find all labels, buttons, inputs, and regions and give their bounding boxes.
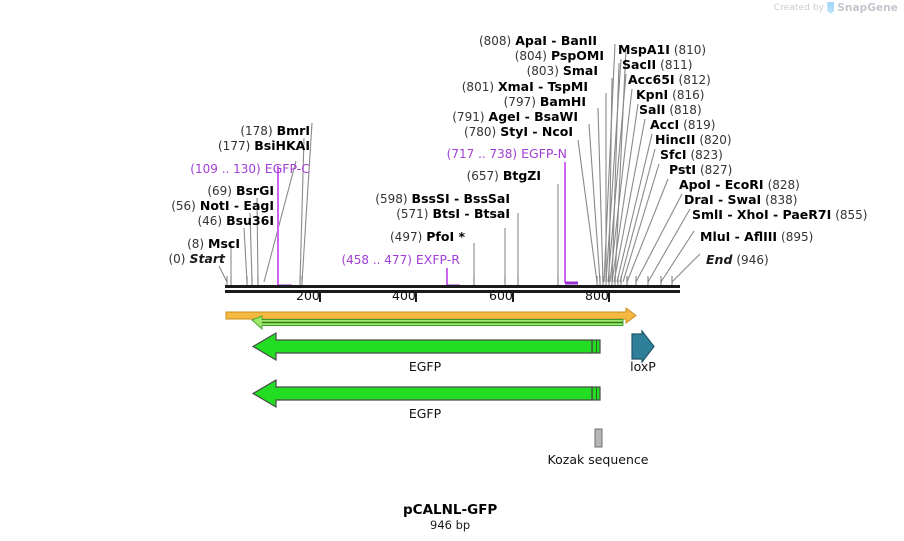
enzyme-name: ApoI - EcoRI — [679, 177, 764, 192]
enzyme-pos: (810) — [674, 43, 706, 57]
enzyme-label-acc65i: Acc65I (812) — [628, 73, 711, 87]
terminus-pos: (946) — [736, 253, 768, 267]
terminus-label-end: End (946) — [706, 253, 769, 267]
enzyme-label-bmri: (178) BmrI — [240, 124, 310, 138]
terminus-pos: (0) — [168, 252, 185, 266]
enzyme-label-btsi-btsai: (571) BtsI - BtsaI — [396, 207, 510, 221]
ruler-tick-label-600: 600 — [489, 289, 513, 302]
enzyme-pos: (895) — [781, 230, 813, 244]
enzyme-name: BmrI — [277, 123, 310, 138]
enzyme-name: MscI — [208, 236, 240, 251]
sequence-backbone — [225, 285, 680, 293]
feature-caption-egfp-2: EGFP — [355, 406, 495, 421]
enzyme-name: StyI - NcoI — [500, 124, 573, 139]
enzyme-label-agei-bsawi: (791) AgeI - BsaWI — [452, 110, 578, 124]
ruler-tick-label-200: 200 — [296, 289, 320, 302]
enzyme-pos: (8) — [187, 237, 204, 251]
enzyme-pos: (791) — [452, 110, 484, 124]
enzyme-pos: (827) — [700, 163, 732, 177]
enzyme-name: MluI - AflIII — [700, 229, 777, 244]
enzyme-name: BtsI - BtsaI — [432, 206, 510, 221]
enzyme-name: ApaI - BanII — [515, 33, 597, 48]
enzyme-name: AgeI - BsaWI — [489, 109, 578, 124]
feature-caption-kozak: Kozak sequence — [528, 452, 668, 467]
enzyme-label-bsrgi: (69) BsrGI — [207, 184, 274, 198]
enzyme-name: KpnI — [636, 87, 668, 102]
enzyme-name: PstI — [669, 162, 696, 177]
enzyme-label-bsssi-bsssai: (598) BssSI - BssSaI — [375, 192, 510, 206]
ruler-ticks — [320, 293, 609, 302]
enzyme-label-smai: (803) SmaI — [527, 64, 598, 78]
enzyme-label-mspa1i: MspA1I (810) — [618, 43, 706, 57]
ruler-tick-label-400: 400 — [392, 289, 416, 302]
feature-arrow-loxp — [632, 331, 654, 362]
enzyme-pos: (598) — [375, 192, 407, 206]
enzyme-label-xmai-tspmi: (801) XmaI - TspMI — [462, 80, 588, 94]
enzyme-name: SacII — [622, 57, 656, 72]
enzyme-pos: (855) — [835, 208, 867, 222]
feature-arrow-egfp-2 — [253, 380, 600, 407]
enzyme-name: PfoI * — [426, 229, 465, 244]
enzyme-name: BsrGI — [236, 183, 274, 198]
enzyme-name: Bsu36I — [226, 213, 274, 228]
enzyme-name: SmlI - XhoI - PaeR7I — [692, 207, 831, 222]
enzyme-label-styi-ncoi: (780) StyI - NcoI — [464, 125, 573, 139]
enzyme-label-pfoi: (497) PfoI * — [390, 230, 465, 244]
enzyme-name: HincII — [655, 132, 695, 147]
enzyme-label-noti-eagi: (56) NotI - EagI — [171, 199, 274, 213]
enzyme-pos: (797) — [504, 95, 536, 109]
feature-label-egfp-n: (717 .. 738) EGFP-N — [447, 147, 567, 161]
enzyme-pos: (816) — [672, 88, 704, 102]
enzyme-label-acci: AccI (819) — [650, 118, 715, 132]
enzyme-pos: (571) — [396, 207, 428, 221]
feature-bracket-egfp-n — [565, 162, 578, 283]
enzyme-name: MspA1I — [618, 42, 670, 57]
ruler-tick-label-800: 800 — [585, 289, 609, 302]
enzyme-name: BtgZI — [503, 168, 541, 183]
feature-bracket-exfp-r — [447, 268, 460, 286]
enzyme-label-msci: (8) MscI — [187, 237, 240, 251]
enzyme-name: AccI — [650, 117, 679, 132]
terminus-name: Start — [189, 251, 225, 266]
enzyme-label-bamhi: (797) BamHI — [504, 95, 586, 109]
enzyme-label-mlui-afliii: MluI - AflIII (895) — [700, 230, 813, 244]
enzyme-pos: (801) — [462, 80, 494, 94]
enzyme-label-sali: SalI (818) — [639, 103, 702, 117]
feature-label-egfp-c: (109 .. 130) EGFP-C — [190, 162, 310, 176]
feature-caption-egfp-1: EGFP — [355, 359, 495, 374]
terminus-label-start: (0) Start — [168, 252, 225, 266]
enzyme-pos: (811) — [660, 58, 692, 72]
enzyme-pos: (178) — [240, 124, 272, 138]
feature-range: (109 .. 130) — [190, 162, 260, 176]
enzyme-name: BsiHKAI — [254, 138, 310, 153]
enzyme-label-apoi-ecori: ApoI - EcoRI (828) — [679, 178, 800, 192]
enzyme-label-apai-banii: (808) ApaI - BanII — [479, 34, 597, 48]
enzyme-pos: (780) — [464, 125, 496, 139]
enzyme-label-sacii: SacII (811) — [622, 58, 692, 72]
feature-label-exfp-r: (458 .. 477) EXFP-R — [341, 253, 460, 267]
enzyme-name: BamHI — [540, 94, 586, 109]
feature-name: EGFP-C — [265, 161, 310, 176]
feature-name: EXFP-R — [416, 252, 460, 267]
enzyme-label-smli-xhoi-paer7i: SmlI - XhoI - PaeR7I (855) — [692, 208, 868, 222]
feature-name: EGFP-N — [521, 146, 567, 161]
enzyme-pos: (820) — [699, 133, 731, 147]
enzyme-label-drai-swai: DraI - SwaI (838) — [684, 193, 797, 207]
enzyme-label-kpni: KpnI (816) — [636, 88, 704, 102]
feature-marker-kozak — [595, 429, 602, 447]
enzyme-pos: (657) — [467, 169, 499, 183]
feature-caption-loxp: loxP — [613, 359, 673, 374]
feature-range: (458 .. 477) — [341, 253, 411, 267]
enzyme-name: XmaI - TspMI — [498, 79, 588, 94]
enzyme-pos: (497) — [390, 230, 422, 244]
enzyme-pos: (46) — [197, 214, 222, 228]
terminus-name: End — [706, 252, 732, 267]
enzyme-label-hincii: HincII (820) — [655, 133, 732, 147]
enzyme-label-bsu36i: (46) Bsu36I — [197, 214, 274, 228]
enzyme-pos: (177) — [218, 139, 250, 153]
enzyme-name: NotI - EagI — [200, 198, 274, 213]
construct-length: 946 bp — [430, 518, 470, 532]
enzyme-pos: (804) — [515, 49, 547, 63]
enzyme-pos: (823) — [691, 148, 723, 162]
enzyme-name: BssSI - BssSaI — [412, 191, 510, 206]
feature-arrow-egfp-1 — [253, 333, 600, 360]
enzyme-pos: (69) — [207, 184, 232, 198]
enzyme-label-psti: PstI (827) — [669, 163, 732, 177]
enzyme-name: SfcI — [660, 147, 687, 162]
enzyme-pos: (56) — [171, 199, 196, 213]
construct-title: pCALNL-GFP — [403, 502, 497, 518]
enzyme-pos: (828) — [768, 178, 800, 192]
enzyme-name: SmaI — [563, 63, 598, 78]
enzyme-label-btgzi: (657) BtgZI — [467, 169, 541, 183]
enzyme-pos: (808) — [479, 34, 511, 48]
enzyme-name: Acc65I — [628, 72, 675, 87]
enzyme-name: PspOMI — [551, 48, 604, 63]
enzyme-name: SalI — [639, 102, 665, 117]
enzyme-name: DraI - SwaI — [684, 192, 761, 207]
enzyme-label-sfci: SfcI (823) — [660, 148, 723, 162]
map-graphics — [0, 0, 904, 541]
enzyme-pos: (819) — [683, 118, 715, 132]
enzyme-pos: (803) — [527, 64, 559, 78]
enzyme-label-bsihkai: (177) BsiHKAI — [218, 139, 310, 153]
enzyme-pos: (838) — [765, 193, 797, 207]
enzyme-pos: (812) — [679, 73, 711, 87]
plasmid-map-canvas: Created by SnapGene — [0, 0, 904, 541]
feature-range: (717 .. 738) — [447, 147, 517, 161]
enzyme-pos: (818) — [669, 103, 701, 117]
enzyme-label-pspomi: (804) PspOMI — [515, 49, 604, 63]
